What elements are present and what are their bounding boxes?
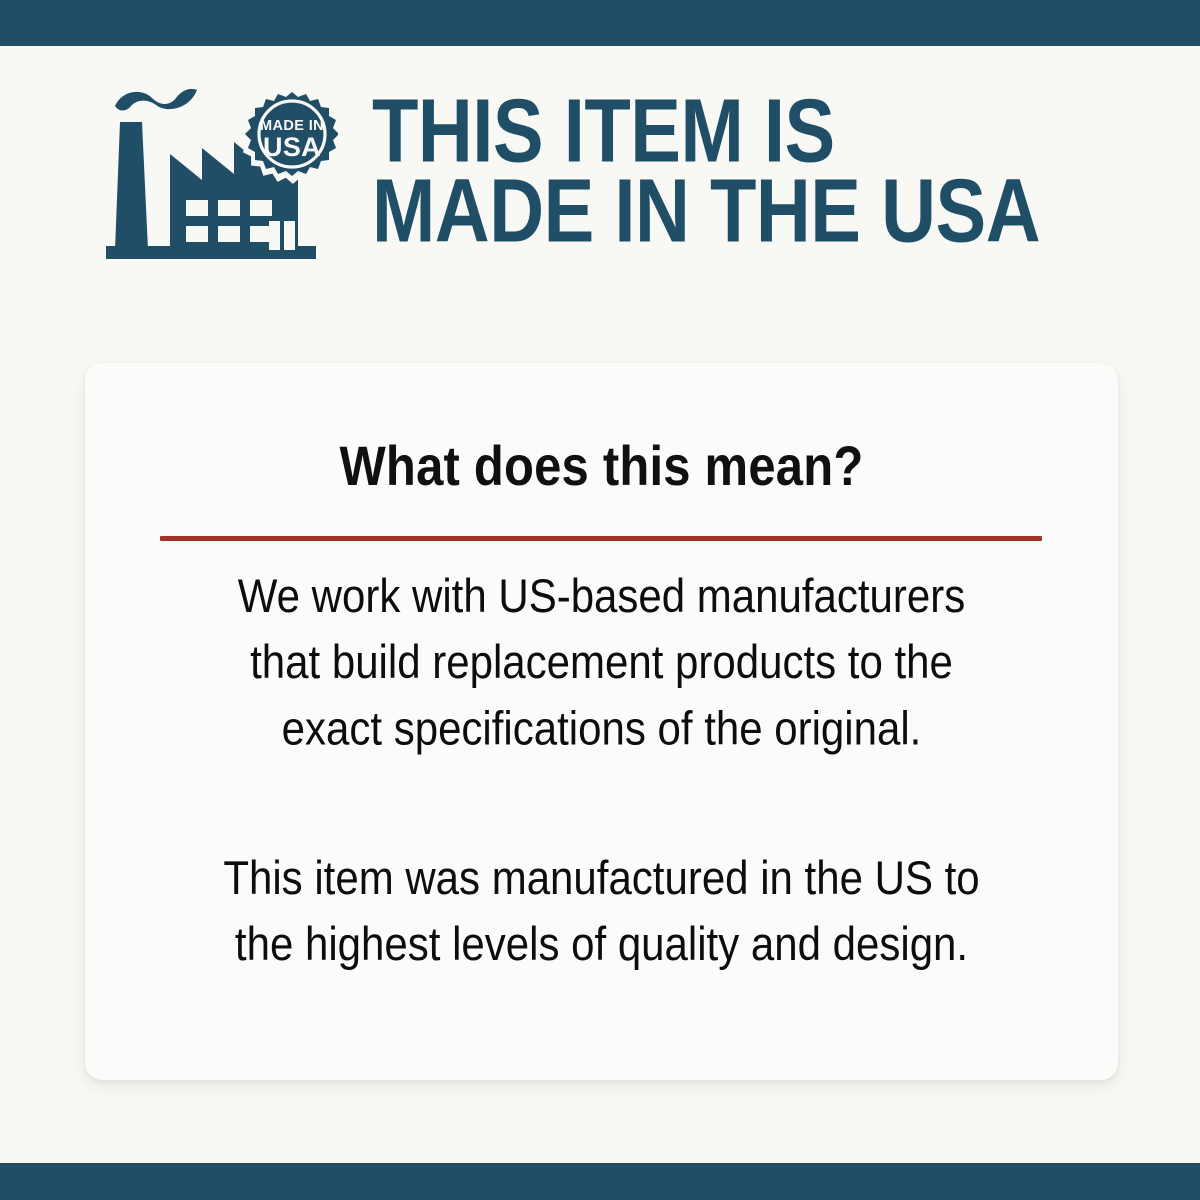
bottom-accent-band [0,1163,1200,1200]
paragraph-2-line-1: This item was manufactured in the US to [130,846,1073,912]
paragraph-1: We work with US-based manufacturers that… [85,564,1118,762]
page-root: MADE IN USA THIS ITEM IS MADE IN THE USA… [0,0,1200,1200]
card-heading: What does this mean? [85,363,1118,499]
paragraph-2: This item was manufactured in the US to … [85,846,1118,978]
paragraph-2-line-2: the highest levels of quality and design… [130,912,1073,978]
smokestack-icon [115,122,148,250]
smoke-icon [115,88,197,110]
page-title: THIS ITEM IS MADE IN THE USA [372,92,1040,252]
heading-divider [160,536,1042,541]
paragraph-1-line-3: exact specifications of the original. [130,696,1073,762]
page-title-line-2: MADE IN THE USA [372,165,1040,260]
paragraph-1-line-1: We work with US-based manufacturers [130,564,1073,630]
info-card: What does this mean? We work with US-bas… [85,363,1118,1080]
badge-line-2: USA [263,132,321,162]
top-accent-band [0,0,1200,46]
factory-icon: MADE IN USA [98,82,338,267]
header: MADE IN USA THIS ITEM IS MADE IN THE USA [0,46,1200,296]
paragraph-1-line-2: that build replacement products to the [130,630,1073,696]
